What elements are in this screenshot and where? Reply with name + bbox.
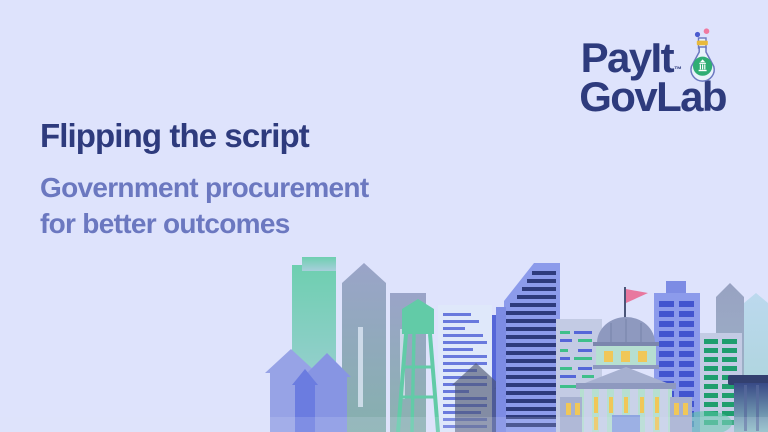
- page-subtitle-line-1: Government procurement: [40, 170, 368, 206]
- city-skyline-illustration: [0, 257, 768, 432]
- page-subtitle: Government procurement for better outcom…: [40, 170, 368, 242]
- flask-with-capitol-icon: [684, 28, 726, 84]
- logo-word-payit: PayIt: [581, 37, 673, 80]
- angled-navy-skyscraper: [496, 263, 560, 432]
- page-title: Flipping the script: [40, 118, 368, 154]
- payit-govlab-logo: PayIt ™: [579, 28, 726, 119]
- flag: [624, 287, 648, 319]
- logo-line-1-row: PayIt ™: [579, 28, 726, 80]
- gray-pointed-tower: [342, 263, 386, 432]
- page-subtitle-line-2: for better outcomes: [40, 206, 368, 242]
- trademark-symbol: ™: [673, 66, 682, 80]
- headline-block: Flipping the script Government procureme…: [40, 118, 368, 242]
- slide-root: PayIt ™: [0, 0, 768, 432]
